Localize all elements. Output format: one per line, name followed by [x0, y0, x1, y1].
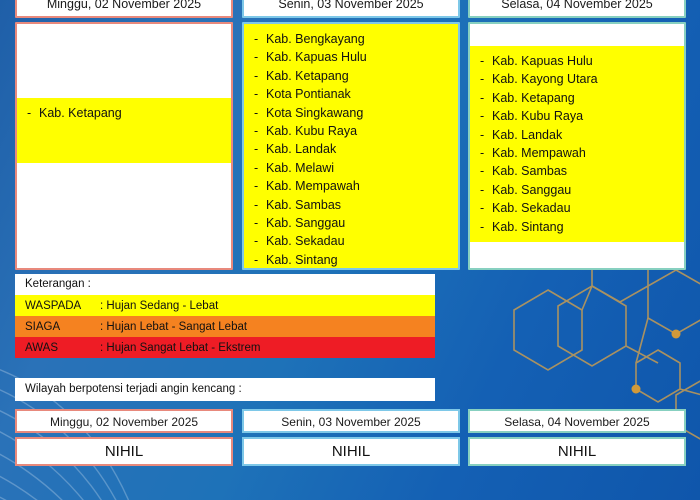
forecast-date-header: Minggu, 02 November 2025	[15, 0, 233, 18]
forecast-date-header: Selasa, 04 November 2025	[468, 0, 686, 18]
region-item: -Kab. Melawi	[244, 159, 458, 177]
bullet-dash-icon: -	[254, 232, 258, 250]
region-item: -Kota Pontianak	[244, 85, 458, 103]
region-item: -Kab. Sambas	[470, 162, 684, 180]
forecast-column-day-1: Minggu, 02 November 2025 -Kab. Ketapang	[15, 0, 233, 270]
region-label: Kab. Sanggau	[266, 216, 345, 230]
legend-row-awas: AWAS : Hujan Sangat Lebat - Ekstrem	[15, 337, 435, 358]
legend-level-label: SIAGA	[15, 321, 100, 333]
region-item: -Kab. Landak	[470, 126, 684, 144]
legend-description: : Hujan Sangat Lebat - Ekstrem	[100, 342, 435, 354]
region-label: Kab. Landak	[266, 142, 336, 156]
wind-section-title: Wilayah berpotensi terjadi angin kencang…	[15, 378, 435, 401]
region-item: -Kab. Ketapang	[470, 89, 684, 107]
region-label: Kab. Ketapang	[39, 106, 122, 120]
region-label: Kab. Sambas	[266, 198, 341, 212]
bullet-dash-icon: -	[254, 48, 258, 66]
region-item: -Kab. Sekadau	[244, 232, 458, 250]
bullet-dash-icon: -	[254, 85, 258, 103]
bullet-dash-icon: -	[254, 104, 258, 122]
bullet-dash-icon: -	[254, 122, 258, 140]
legend-row-waspada: WASPADA : Hujan Sedang - Lebat	[15, 295, 435, 316]
region-list: -Kab. Kapuas Hulu -Kab. Kayong Utara -Ka…	[470, 24, 684, 236]
forecast-date-header: Senin, 03 November 2025	[242, 0, 460, 18]
slide-canvas: Minggu, 02 November 2025 -Kab. Ketapang …	[0, 0, 700, 500]
bullet-dash-icon: -	[254, 177, 258, 195]
region-label: Kab. Kayong Utara	[492, 72, 598, 86]
region-label: Kab. Sintang	[266, 253, 338, 267]
bullet-dash-icon: -	[480, 52, 484, 70]
wind-value: NIHIL	[15, 437, 233, 466]
region-item: -Kab. Sintang	[244, 251, 458, 269]
wind-value: NIHIL	[468, 437, 686, 466]
forecast-region-panel: -Kab. Bengkayang -Kab. Kapuas Hulu -Kab.…	[242, 22, 460, 270]
region-item: -Kab. Bengkayang	[244, 30, 458, 48]
legend-level-label: AWAS	[15, 342, 100, 354]
region-label: Kab. Mempawah	[266, 179, 360, 193]
wind-date-header: Senin, 03 November 2025	[242, 409, 460, 433]
region-label: Kab. Bengkayang	[266, 32, 365, 46]
forecast-region-panel: -Kab. Ketapang	[15, 22, 233, 270]
legend-description: : Hujan Sedang - Lebat	[100, 300, 435, 312]
forecast-region-panel: -Kab. Kapuas Hulu -Kab. Kayong Utara -Ka…	[468, 22, 686, 270]
region-label: Kab. Kapuas Hulu	[492, 54, 593, 68]
bullet-dash-icon: -	[480, 218, 484, 236]
region-list: -Kab. Ketapang	[17, 24, 231, 122]
region-label: Kota Pontianak	[266, 87, 351, 101]
region-label: Kab. Sanggau	[492, 183, 571, 197]
region-item: -Kab. Kubu Raya	[244, 122, 458, 140]
region-item: -Kab. Sintang	[470, 218, 684, 236]
region-item: -Kab. Ketapang	[17, 104, 231, 122]
region-label: Kota Singkawang	[266, 106, 363, 120]
region-label: Kab. Kapuas Hulu	[266, 50, 367, 64]
bullet-dash-icon: -	[480, 70, 484, 88]
bullet-dash-icon: -	[254, 140, 258, 158]
region-item: -Kab. Kayong Utara	[470, 70, 684, 88]
region-item: -Kota Singkawang	[244, 104, 458, 122]
region-item: -Kab. Landak	[244, 140, 458, 158]
region-label: Kab. Mempawah	[492, 146, 586, 160]
bullet-dash-icon: -	[480, 162, 484, 180]
region-item: -Kab. Kapuas Hulu	[470, 52, 684, 70]
region-item: -Kab. Ketapang	[244, 67, 458, 85]
legend-row-siaga: SIAGA : Hujan Lebat - Sangat Lebat	[15, 316, 435, 337]
region-item: -Kab. Sanggau	[470, 181, 684, 199]
bullet-dash-icon: -	[254, 30, 258, 48]
region-item: -Kab. Kubu Raya	[470, 107, 684, 125]
region-label: Kab. Sekadau	[492, 201, 571, 215]
region-label: Kab. Sambas	[492, 164, 567, 178]
region-label: Kab. Landak	[492, 128, 562, 142]
wind-column-day-2: Senin, 03 November 2025 NIHIL	[242, 409, 460, 466]
forecast-column-day-3: Selasa, 04 November 2025 -Kab. Kapuas Hu…	[468, 0, 686, 270]
bullet-dash-icon: -	[254, 159, 258, 177]
region-item: -Kab. Mempawah	[244, 177, 458, 195]
wind-date-header: Selasa, 04 November 2025	[468, 409, 686, 433]
region-item: -Kab. Kapuas Hulu	[244, 48, 458, 66]
bullet-dash-icon: -	[254, 196, 258, 214]
region-label: Kab. Melawi	[266, 161, 334, 175]
region-item: -Kab. Sekadau	[470, 199, 684, 217]
wind-value: NIHIL	[242, 437, 460, 466]
bullet-dash-icon: -	[254, 67, 258, 85]
region-label: Kab. Kubu Raya	[492, 109, 583, 123]
legend-description: : Hujan Lebat - Sangat Lebat	[100, 321, 435, 333]
bullet-dash-icon: -	[480, 144, 484, 162]
legend-title: Keterangan :	[15, 274, 435, 295]
legend-level-label: WASPADA	[15, 300, 100, 312]
bullet-dash-icon: -	[480, 199, 484, 217]
region-item: -Kab. Sanggau	[244, 214, 458, 232]
bullet-dash-icon: -	[254, 214, 258, 232]
forecast-column-day-2: Senin, 03 November 2025 -Kab. Bengkayang…	[242, 0, 460, 270]
wind-column-day-1: Minggu, 02 November 2025 NIHIL	[15, 409, 233, 466]
wind-column-day-3: Selasa, 04 November 2025 NIHIL	[468, 409, 686, 466]
wind-date-header: Minggu, 02 November 2025	[15, 409, 233, 433]
region-label: Kab. Kubu Raya	[266, 124, 357, 138]
bullet-dash-icon: -	[480, 126, 484, 144]
region-label: Kab. Sekadau	[266, 234, 345, 248]
region-item: -Kab. Mempawah	[470, 144, 684, 162]
bullet-dash-icon: -	[254, 251, 258, 269]
region-label: Kab. Ketapang	[266, 69, 349, 83]
region-item: -Kab. Sambas	[244, 196, 458, 214]
legend-panel: Keterangan : WASPADA : Hujan Sedang - Le…	[15, 274, 435, 358]
region-label: Kab. Ketapang	[492, 91, 575, 105]
region-list: -Kab. Bengkayang -Kab. Kapuas Hulu -Kab.…	[244, 24, 458, 269]
bullet-dash-icon: -	[480, 181, 484, 199]
bullet-dash-icon: -	[27, 104, 31, 122]
bullet-dash-icon: -	[480, 89, 484, 107]
bullet-dash-icon: -	[480, 107, 484, 125]
region-label: Kab. Sintang	[492, 220, 564, 234]
